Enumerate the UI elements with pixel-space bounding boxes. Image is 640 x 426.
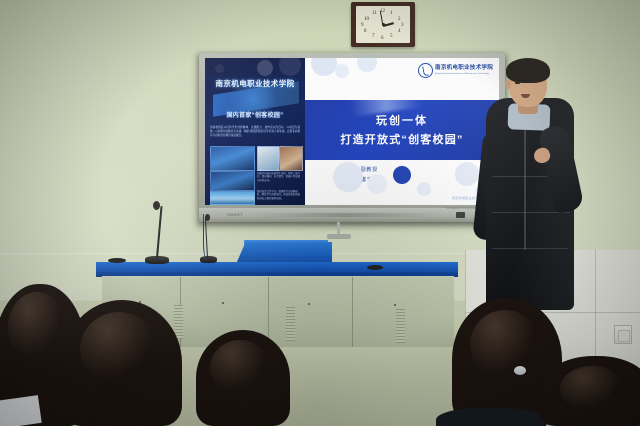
clock-numeral: 2	[398, 17, 401, 22]
logo-name-cn: 南京机电职业技术学院	[435, 66, 493, 72]
clock-numeral: 10	[364, 17, 369, 22]
clock-numeral: 8	[364, 29, 367, 34]
institution-logo: 南京机电职业技术学院 Nanjing Vocational Institute …	[418, 63, 493, 78]
poster-photo	[210, 171, 255, 191]
hair-tie	[514, 366, 526, 375]
smart-tv[interactable]: 南京机电职业技术学院 国内首家“创客校园” 创客校园是以培养学生创新精神、实践能…	[199, 53, 505, 222]
vent-grille	[396, 309, 405, 343]
logo-mark-icon	[418, 63, 433, 78]
poster-body-text: 创客校园是以培养学生创新精神、实践能力、协作意识为目标，以项目为载体，以创新创业…	[210, 126, 300, 138]
poster-photo	[279, 146, 303, 171]
slide-title-line2: 打造开放式“创客校园”	[305, 131, 499, 147]
logo-name-en: Nanjing Vocational Institute of Mechatro…	[435, 73, 493, 75]
desk-cable-coil	[108, 258, 126, 263]
clock-numeral: 3	[401, 23, 404, 28]
presenter-hair	[506, 58, 550, 83]
tv-screen[interactable]: 南京机电职业技术学院 国内首家“创客校园” 创客校园是以培养学生创新精神、实践能…	[205, 58, 499, 205]
tv-chin-bar: SMART INTERACTIVE PANEL	[199, 208, 505, 222]
tv-brand-label: SMART	[227, 212, 243, 217]
clock-numeral: 7	[372, 34, 375, 39]
clock-center-pin	[382, 23, 385, 26]
poster-photo	[210, 191, 255, 205]
clock-numeral: 5	[390, 34, 393, 39]
wall-switch[interactable]	[614, 325, 632, 344]
wall-clock: 12 1 2 3 4 5 6 7 8 9 10 11	[351, 2, 415, 47]
slide-title-line1: 玩创一体	[305, 112, 499, 128]
clock-face: 12 1 2 3 4 5 6 7 8 9 10 11	[356, 6, 410, 43]
clock-numeral: 1	[390, 11, 393, 16]
student-collar	[0, 395, 42, 426]
presenter-jacket-zip	[524, 130, 526, 250]
poster-text-block: 创客空间面向全校师生开放，提供三维打印、激光雕刻、电子制作、机器人等设备与技术支…	[257, 172, 301, 182]
poster-title: 南京机电职业技术学院	[205, 78, 305, 89]
vent-grille	[286, 307, 295, 341]
tv-ir-sensor-icon	[456, 212, 465, 218]
tv-speaker-grille	[251, 213, 441, 217]
clock-numeral: 6	[381, 36, 384, 41]
tv-stand-foot	[327, 234, 351, 239]
slide-right-panel: 南京机电职业技术学院 Nanjing Vocational Institute …	[305, 58, 499, 205]
microphone-head[interactable]	[153, 201, 160, 210]
slide-left-poster: 南京机电职业技术学院 国内首家“创客校园” 创客校园是以培养学生创新精神、实践能…	[205, 58, 305, 205]
clock-numeral: 11	[372, 11, 377, 16]
microphone-cable	[203, 214, 216, 262]
classroom-photo: 12 1 2 3 4 5 6 7 8 9 10 11	[0, 0, 640, 426]
clock-numeral: 9	[361, 23, 364, 28]
presentation-slide: 南京机电职业技术学院 国内首家“创客校园” 创客校园是以培养学生创新精神、实践能…	[205, 58, 499, 205]
poster-text-block: 依托校企合作平台，组建跨专业创客团队，孵化学生创新项目，参加各级各类创新创业大赛…	[257, 190, 301, 200]
desk-remote[interactable]	[367, 265, 383, 270]
poster-photo	[210, 146, 255, 171]
slide-title-band: 玩创一体 打造开放式“创客校园”	[305, 100, 499, 160]
poster-subtitle: 国内首家“创客校园”	[205, 110, 305, 119]
clock-numeral: 4	[398, 29, 401, 34]
student-shoulder	[436, 408, 546, 426]
poster-photo	[257, 146, 279, 171]
lectern-monitor[interactable]	[236, 242, 332, 264]
presenter-eye	[532, 81, 537, 83]
presenter-eye	[515, 82, 520, 84]
switch-rocker[interactable]	[618, 330, 630, 342]
presenter-ear	[505, 80, 511, 89]
